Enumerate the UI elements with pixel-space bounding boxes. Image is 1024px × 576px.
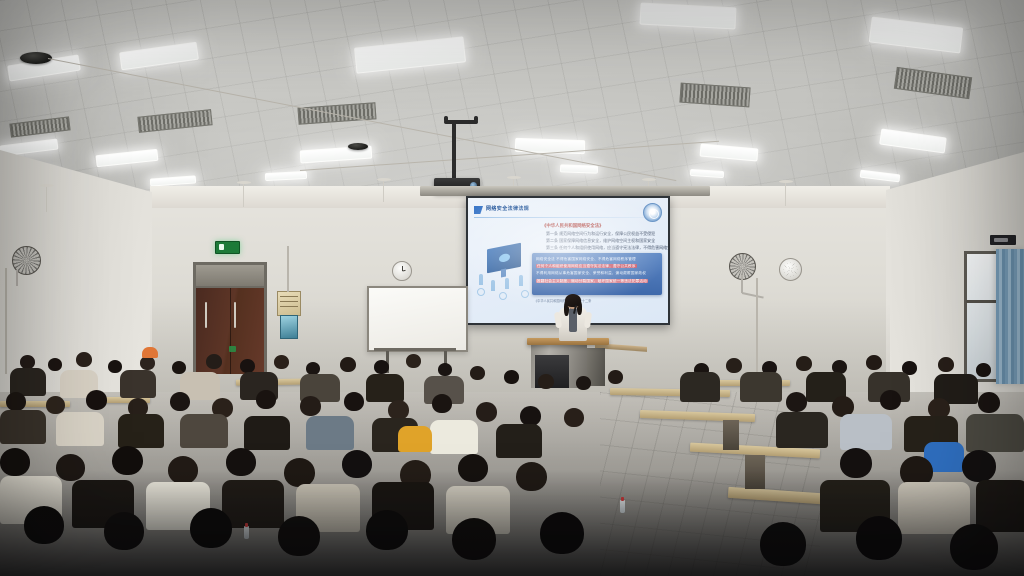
wall-conduit: [287, 246, 289, 292]
foreground-shadow: [0, 470, 1024, 576]
audience-head: [388, 400, 409, 420]
wall-mounted-fan-left: [12, 246, 39, 273]
audience-head: [76, 352, 92, 367]
audience-head: [726, 358, 742, 373]
pendant-disc: [507, 176, 521, 179]
door-transom-window: [196, 265, 264, 286]
audience-head: [240, 359, 255, 373]
lecture-hall-photo: 网络安全法律法规 《中华人民共和国网络安全法》 第一条 规范网络空间行为和运行安…: [0, 0, 1024, 576]
fan-arm: [741, 275, 743, 293]
pendant-rod: [46, 186, 47, 212]
pendant-disc: [779, 180, 793, 183]
audience-body: [840, 414, 892, 450]
audience-head: [866, 355, 882, 370]
audience-body: [180, 414, 228, 448]
audience-head: [796, 356, 812, 371]
audience-head: [470, 366, 485, 380]
audience-head: [206, 354, 222, 369]
audience-body: [496, 424, 542, 458]
audience-head: [976, 363, 991, 377]
audience-body: [366, 374, 404, 402]
audience-body: [430, 420, 478, 454]
audience-head: [476, 402, 497, 422]
door-handle[interactable]: [234, 302, 236, 328]
audience-head: [256, 390, 276, 409]
exit-sign: [215, 241, 240, 254]
projector-mount-pole: [452, 124, 456, 180]
audience-head: [170, 392, 190, 411]
audience-head: [504, 370, 519, 384]
pendant-disc: [237, 181, 251, 184]
audience-body: [776, 412, 828, 448]
audience-head: [20, 355, 35, 369]
audience-head: [608, 370, 623, 384]
wall-mounted-fan-right: [729, 253, 754, 278]
audience-head: [108, 360, 122, 373]
screen-roller-housing: [420, 186, 710, 196]
audience-head: [978, 392, 1000, 413]
audience-head: [520, 406, 541, 426]
audience-head: [938, 357, 954, 372]
wall-clock-side: [779, 258, 802, 281]
smoke-detector-icon: [348, 143, 368, 150]
pendant-rod: [243, 183, 244, 207]
audience-head: [564, 408, 584, 427]
audience-head: [48, 358, 62, 371]
audience-head: [880, 390, 901, 410]
audience-body: [966, 414, 1024, 452]
audience-body: [306, 416, 354, 450]
audience-body: [118, 414, 164, 448]
audience-body-yellow: [398, 426, 432, 452]
audience-head: [576, 376, 591, 390]
fan-arm: [16, 270, 18, 286]
audience-head: [340, 357, 356, 372]
emergency-sign: [990, 235, 1016, 245]
audience-head: [344, 392, 364, 411]
pendant-disc: [642, 178, 656, 181]
audience-body: [56, 412, 104, 446]
audience-head: [432, 394, 452, 413]
pendant-rod: [383, 180, 384, 202]
audience-body: [0, 410, 46, 444]
audience-body: [244, 416, 290, 450]
audience-head: [438, 363, 452, 376]
audience-body: [740, 372, 782, 402]
audience-head: [406, 354, 421, 368]
pendant-disc: [377, 178, 391, 181]
audience-head: [274, 355, 289, 369]
audience-head: [786, 392, 807, 412]
audience-head: [140, 356, 155, 370]
audience-body: [680, 372, 720, 402]
wall-notice-board: [277, 291, 301, 316]
audience-head: [538, 374, 554, 389]
presenter-hair: [565, 294, 581, 307]
ceiling-light: [560, 164, 598, 173]
audience-head: [300, 396, 321, 416]
audience-body: [120, 370, 156, 398]
pendant-rod: [785, 182, 786, 206]
wall-clock-front: [392, 261, 412, 281]
audience-head: [86, 390, 107, 410]
audience-head: [6, 392, 26, 411]
door-handle[interactable]: [205, 302, 207, 328]
audience-head-capped: [142, 347, 158, 358]
pendant-disc: [40, 184, 54, 187]
projector-mount-yoke: [444, 120, 478, 124]
audience-head: [374, 360, 389, 374]
